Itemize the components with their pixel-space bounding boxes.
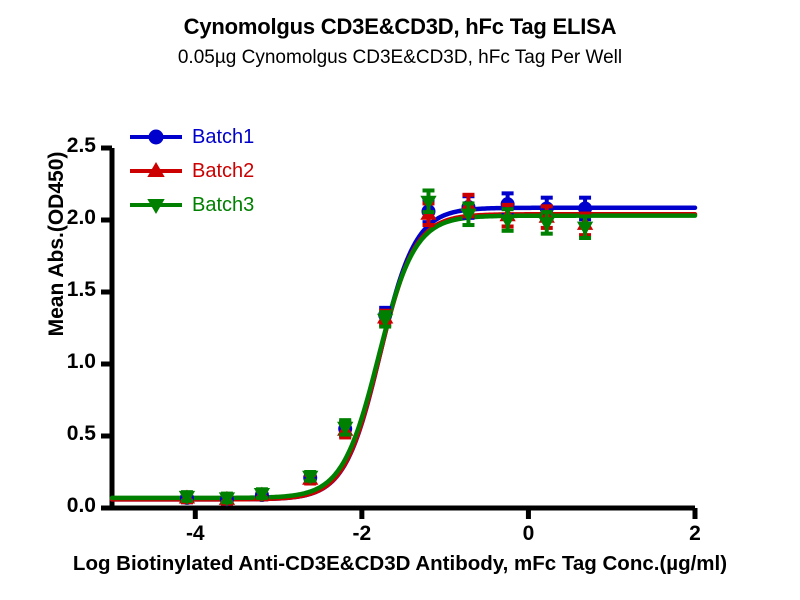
series-batch1 — [180, 193, 591, 506]
legend-item-batch2[interactable]: Batch2 — [128, 154, 254, 188]
legend-marker-triangle-up-icon — [128, 160, 184, 182]
series-batch2 — [180, 195, 593, 505]
fit-curve-batch1 — [112, 208, 695, 500]
legend-item-batch1[interactable]: Batch1 — [128, 120, 254, 154]
fit-curve-batch2 — [112, 214, 695, 499]
legend-item-batch3[interactable]: Batch3 — [128, 188, 254, 222]
y-tick-label: 0.5 — [36, 422, 96, 446]
y-axis-title: Mean Abs.(OD450) — [45, 79, 69, 409]
x-tick-label: 0 — [498, 522, 558, 546]
x-tick-label: 2 — [665, 522, 725, 546]
chart-legend: Batch1Batch2Batch3 — [128, 120, 254, 222]
x-axis-title: Log Biotinylated Anti-CD3E&CD3D Antibody… — [0, 552, 800, 576]
fit-curve-batch3 — [112, 216, 695, 498]
legend-marker-triangle-down-icon — [128, 194, 184, 216]
plot-area — [0, 0, 800, 600]
legend-label: Batch2 — [192, 160, 254, 183]
legend-label: Batch3 — [192, 194, 254, 217]
legend-label: Batch1 — [192, 126, 254, 149]
elisa-chart-figure: Cynomolgus CD3E&CD3D, hFc Tag ELISA 0.05… — [0, 0, 800, 600]
legend-marker-circle-icon — [128, 126, 184, 148]
x-tick-label: -2 — [332, 522, 392, 546]
x-tick-label: -4 — [165, 522, 225, 546]
series-batch3 — [180, 190, 593, 505]
y-tick-label: 0.0 — [36, 494, 96, 518]
